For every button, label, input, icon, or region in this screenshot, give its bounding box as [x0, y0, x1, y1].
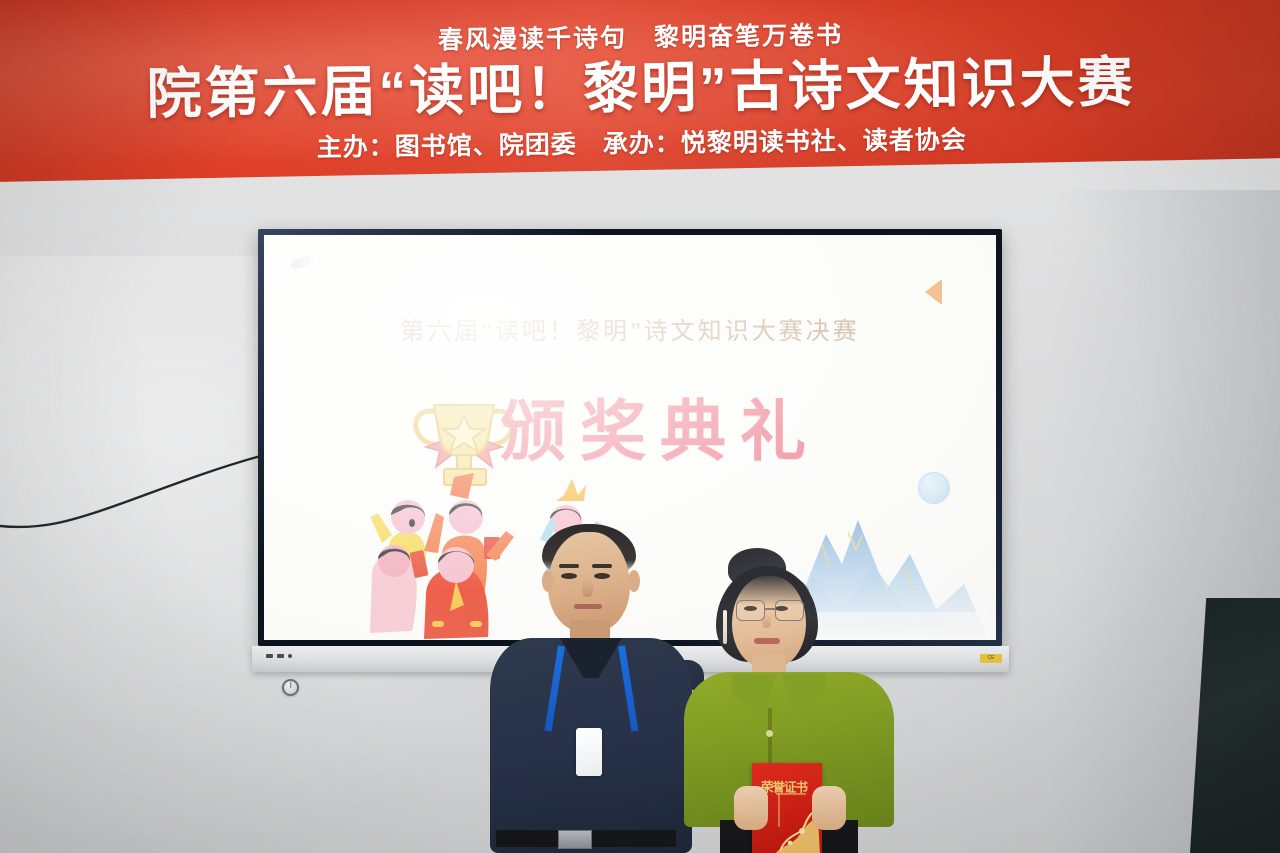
glasses-lens-right: [775, 600, 804, 621]
woman-blouse-button: [766, 730, 773, 737]
man-ear-left: [542, 570, 554, 592]
presenter-man: [476, 520, 706, 853]
man-mouth: [574, 604, 602, 609]
woman-nose: [762, 614, 771, 628]
woman-hand-left: [734, 786, 768, 830]
man-belt-buckle: [558, 830, 592, 849]
slide-subtitle: 第六届“读吧！黎明”诗文知识大赛决赛: [264, 311, 996, 346]
award-recipient-woman: 荣誉证书: [676, 548, 902, 853]
triangle-marker-icon: [925, 279, 942, 305]
woman-hand-right: [812, 786, 846, 830]
banner-main-title: 院第六届“读吧！黎明”古诗文知识大赛: [0, 52, 1280, 126]
man-brow-left: [559, 564, 579, 568]
man-nose: [582, 580, 593, 597]
chin-port-indicators: [266, 654, 292, 658]
man-eye-left: [561, 573, 577, 579]
man-ear-right: [628, 570, 640, 592]
id-badge: [576, 728, 602, 776]
power-button-icon[interactable]: [282, 679, 299, 696]
man-brow-right: [592, 564, 612, 568]
chin-certification-label: CE: [980, 654, 1002, 663]
photograph-canvas: 春风漫读千诗句 黎明奋笔万卷书 院第六届“读吧！黎明”古诗文知识大赛 主办：图书…: [0, 0, 1280, 853]
slide-wisp-decoration: [289, 253, 317, 271]
certificate-rule: [776, 793, 806, 795]
woman-mouth: [754, 638, 780, 644]
glasses-lens-left: [736, 600, 765, 621]
man-eye-right: [594, 573, 610, 579]
woman-earring: [723, 610, 727, 644]
wall-cable: [0, 430, 270, 540]
